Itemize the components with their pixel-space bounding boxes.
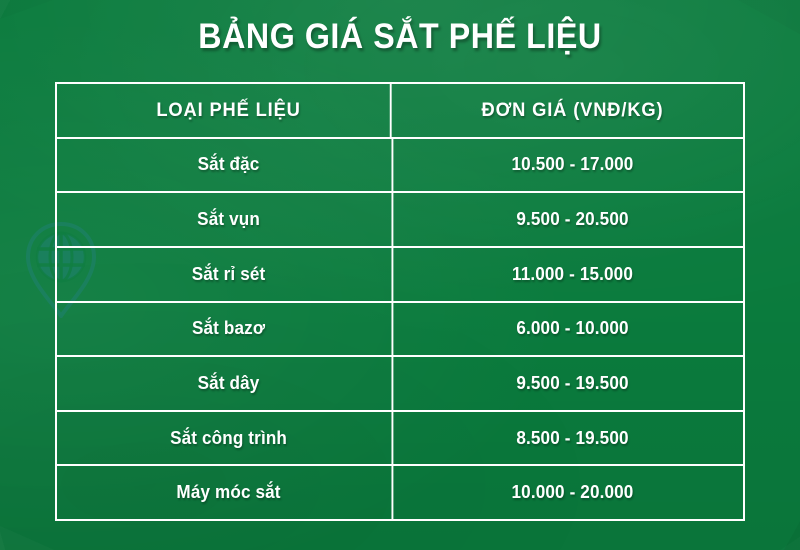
cell-scrap-type: Sắt công trình [66, 412, 394, 465]
page-title: BẢNG GIÁ SẮT PHẾ LIỆU [32, 16, 768, 58]
cell-unit-price: 11.000 - 15.000 [411, 248, 735, 301]
cell-scrap-type: Sắt đặc [66, 139, 394, 192]
cell-unit-price: 8.500 - 19.500 [411, 412, 735, 465]
cell-unit-price: 9.500 - 20.500 [411, 193, 735, 246]
cell-unit-price: 6.000 - 10.000 [411, 303, 735, 356]
cell-unit-price: 10.500 - 17.000 [411, 139, 735, 192]
table-header-row: LOẠI PHẾ LIỆU ĐƠN GIÁ (VNĐ/KG) [57, 84, 743, 139]
table-row: Sắt công trình 8.500 - 19.500 [57, 412, 743, 467]
table-row: Sắt đặc 10.500 - 17.000 [57, 139, 743, 194]
price-table: LOẠI PHẾ LIỆU ĐƠN GIÁ (VNĐ/KG) Sắt đặc 1… [55, 82, 745, 521]
cell-unit-price: 9.500 - 19.500 [411, 357, 735, 410]
column-header-price: ĐƠN GIÁ (VNĐ/KG) [412, 84, 733, 137]
column-header-type: LOẠI PHẾ LIỆU [67, 84, 391, 137]
table-row: Sắt rỉ sét 11.000 - 15.000 [57, 248, 743, 303]
cell-scrap-type: Sắt bazơ [66, 303, 394, 356]
price-table-poster: BẢNG GIÁ SẮT PHẾ LIỆU LOẠI PHẾ LIỆU ĐƠN … [0, 0, 800, 550]
table-row: Sắt bazơ 6.000 - 10.000 [57, 303, 743, 358]
table-row: Sắt vụn 9.500 - 20.500 [57, 193, 743, 248]
cell-unit-price: 10.000 - 20.000 [411, 466, 735, 519]
cell-scrap-type: Sắt dây [66, 357, 394, 410]
table-row: Máy móc sắt 10.000 - 20.000 [57, 466, 743, 519]
table-row: Sắt dây 9.500 - 19.500 [57, 357, 743, 412]
cell-scrap-type: Máy móc sắt [66, 466, 394, 519]
cell-scrap-type: Sắt rỉ sét [66, 248, 394, 301]
cell-scrap-type: Sắt vụn [66, 193, 394, 246]
